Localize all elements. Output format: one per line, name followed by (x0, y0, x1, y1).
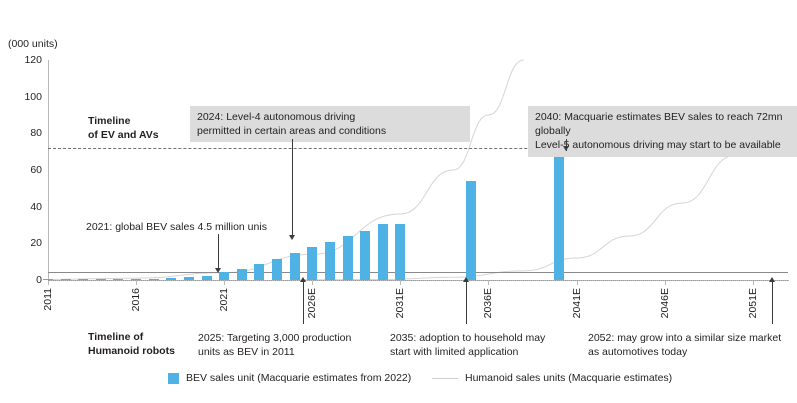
plot-area: 020406080100120 (48, 60, 788, 280)
bar (131, 279, 141, 280)
chart-root: (000 units) 020406080100120 201120162021… (0, 0, 797, 403)
bar (290, 253, 300, 280)
x-tick (224, 281, 225, 285)
bar (219, 272, 229, 280)
y-tick-label: 20 (30, 237, 42, 249)
arrow-2052 (769, 277, 775, 282)
y-tick-label: 0 (36, 274, 42, 286)
x-tick-label: 2016 (130, 288, 142, 311)
reference-line (48, 272, 788, 273)
legend-bar-swatch-icon (168, 373, 179, 384)
legend-label-humanoid: Humanoid sales units (Macquarie estimate… (465, 372, 672, 384)
legend-line-swatch-icon (432, 378, 458, 379)
bar (43, 279, 53, 280)
x-tick (48, 281, 49, 285)
y-tick-label: 120 (24, 54, 42, 66)
bar (78, 279, 88, 280)
leader-2024 (292, 139, 293, 237)
bar (378, 224, 388, 280)
bar (149, 279, 159, 280)
x-tick (665, 281, 666, 285)
callout-2035: 2035: adoption to household may start wi… (390, 331, 545, 359)
arrow-2035 (463, 277, 469, 282)
trend-curve (48, 60, 524, 279)
bar (343, 236, 353, 280)
x-tick-label: 2011 (42, 288, 54, 311)
y-tick-label: 100 (24, 91, 42, 103)
x-tick-label: 2036E (482, 288, 494, 318)
bar (307, 247, 317, 280)
y-tick-label: 60 (30, 164, 42, 176)
leader-2025 (303, 282, 304, 324)
y-axis-units-caption: (000 units) (8, 38, 58, 50)
arrow-2021 (215, 268, 221, 273)
x-tick (577, 281, 578, 285)
chart-legend: BEV sales unit (Macquarie estimates from… (0, 372, 797, 394)
bar (554, 148, 564, 280)
bar (184, 277, 194, 280)
bar (254, 264, 264, 280)
x-tick (312, 281, 313, 285)
arrow-2024 (289, 235, 295, 240)
arrow-2025 (300, 277, 306, 282)
legend-item-bev: BEV sales unit (Macquarie estimates from… (168, 372, 411, 384)
x-tick (136, 281, 137, 285)
bar (237, 269, 247, 280)
bar (166, 278, 176, 280)
leader-2035 (466, 282, 467, 324)
y-tick-label: 40 (30, 201, 42, 213)
x-tick-label: 2031E (394, 288, 406, 318)
legend-item-humanoid: Humanoid sales units (Macquarie estimate… (432, 372, 672, 384)
bar (113, 279, 123, 280)
x-tick-label: 2046E (659, 288, 671, 318)
legend-label-bev: BEV sales unit (Macquarie estimates from… (186, 372, 411, 384)
callout-2024: 2024: Level-4 autonomous driving permitt… (190, 106, 470, 142)
arrow-2040 (563, 146, 569, 151)
leader-2052 (772, 282, 773, 324)
x-tick-label: 2041E (571, 288, 583, 318)
x-axis-tick-labels: 2011201620212026E2031E2036E2041E2046E205… (48, 281, 789, 329)
bar (395, 224, 405, 280)
bar (466, 181, 476, 280)
leader-2021 (218, 234, 219, 270)
bar (96, 279, 106, 280)
x-tick-label: 2021 (218, 288, 230, 311)
x-tick (753, 281, 754, 285)
x-tick (400, 281, 401, 285)
bar (325, 242, 335, 281)
callout-2021: 2021: global BEV sales 4.5 million unis (86, 220, 267, 234)
timeline-label-humanoid: Timeline of Humanoid robots (88, 330, 175, 358)
x-tick (488, 281, 489, 285)
bar (272, 259, 282, 280)
callout-2025: 2025: Targeting 3,000 production units a… (198, 331, 351, 359)
bar (202, 276, 212, 280)
bar (61, 279, 71, 280)
timeline-label-ev: Timeline of EV and AVs (88, 114, 159, 142)
trend-curves (48, 60, 788, 280)
x-tick-label: 2051E (747, 288, 759, 318)
bar (360, 231, 370, 281)
y-tick-label: 80 (30, 127, 42, 139)
callout-2052: 2052: may grow into a similar size marke… (588, 331, 781, 359)
x-tick-label: 2026E (306, 288, 318, 318)
